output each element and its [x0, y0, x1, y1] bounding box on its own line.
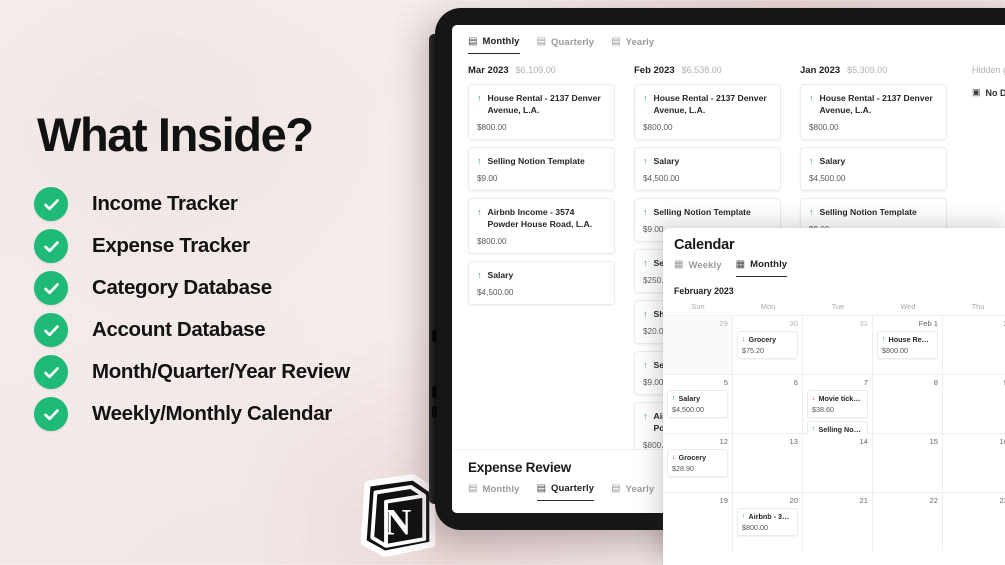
calendar-cell[interactable]: 14	[803, 434, 873, 492]
calendar-panel: Calendar ▦Weekly▦Monthly February 2023 S…	[663, 228, 1005, 565]
card-title: Selling Notion Template	[654, 206, 751, 218]
calendar-month-label: February 2023	[663, 277, 1005, 302]
calendar-grid-icon: ▦	[736, 260, 745, 270]
tab-monthly[interactable]: ▦Monthly	[736, 259, 788, 277]
card-title: Salary	[488, 269, 514, 281]
calendar-event[interactable]: ↓Grocery$75.20	[737, 331, 798, 359]
page-title: What Inside?	[37, 107, 313, 162]
calendar-week-row: 5↑Salary$4,500.0067↓Movie tickets$38.60↑…	[663, 374, 1005, 433]
board-card[interactable]: ↑Salary$4,500.00	[468, 261, 615, 305]
arrow-in-icon: ↑	[809, 206, 814, 218]
card-amount: $4,500.00	[477, 288, 606, 297]
board-card[interactable]: ↑Salary$4,500.00	[634, 147, 781, 191]
event-amount: $800.00	[882, 346, 933, 355]
card-amount: $800.00	[809, 123, 938, 132]
marketing-panel: What Inside? Income TrackerExpense Track…	[0, 0, 450, 565]
tab-label: Weekly	[688, 260, 721, 271]
calendar-day-name: Sun	[663, 302, 733, 315]
calendar-icon: ▤	[537, 37, 546, 47]
event-title: Grocery	[679, 453, 707, 462]
calendar-event[interactable]: ↓Grocery$28.90	[667, 449, 728, 477]
board-card[interactable]: ↑House Rental - 2137 Denver Avenue, L.A.…	[634, 84, 781, 140]
arrow-in-icon: ↑	[643, 155, 648, 167]
event-title: Selling Notion Te...	[819, 425, 864, 434]
calendar-date: 6	[737, 378, 798, 387]
arrow-in-icon: ↑	[882, 335, 886, 344]
tab-quarterly[interactable]: ▤Quarterly	[537, 483, 595, 501]
card-amount: $800.00	[643, 123, 772, 132]
calendar-cell[interactable]: 19	[663, 493, 733, 551]
calendar-cell[interactable]: 7↓Movie tickets$38.60↑Selling Notion Te.…	[803, 375, 873, 433]
arrow-out-icon: ↓	[742, 335, 746, 344]
calendar-cell[interactable]: 5↑Salary$4,500.00	[663, 375, 733, 433]
board-card[interactable]: ↑Salary$4,500.00	[800, 147, 947, 191]
feature-row: Month/Quarter/Year Review	[34, 351, 444, 393]
feature-label: Account Database	[92, 318, 265, 342]
calendar-day-name: Mon	[733, 302, 803, 315]
column-title: Mar 2023	[468, 65, 509, 76]
feature-row: Category Database	[34, 267, 444, 309]
calendar-date: 23	[947, 496, 1005, 505]
arrow-in-icon: ↑	[477, 92, 482, 104]
calendar-icon: ▤	[468, 37, 477, 47]
event-title: House Rental - 21...	[889, 335, 934, 344]
calendar-date: 31	[807, 319, 868, 328]
tab-label: Quarterly	[551, 37, 594, 48]
feature-label: Month/Quarter/Year Review	[92, 360, 350, 384]
calendar-cell[interactable]: 16	[943, 434, 1005, 492]
board-card[interactable]: ↑House Rental - 2137 Denver Avenue, L.A.…	[800, 84, 947, 140]
calendar-date: Feb 1	[877, 319, 938, 328]
board-card[interactable]: ↑House Rental - 2137 Denver Avenue, L.A.…	[468, 84, 615, 140]
arrow-in-icon: ↑	[643, 257, 648, 269]
tab-label: Yearly	[626, 484, 655, 495]
calendar-event[interactable]: ↓Movie tickets$38.60	[807, 390, 868, 418]
board-card[interactable]: ↑Airbnb Income - 3574 Powder House Road,…	[468, 198, 615, 254]
calendar-date: 15	[877, 437, 938, 446]
calendar-date: 20	[737, 496, 798, 505]
calendar-view-tabs: ▦Weekly▦Monthly	[663, 253, 1005, 277]
calendar-title: Calendar	[663, 228, 1005, 253]
check-icon	[34, 397, 68, 431]
calendar-cell[interactable]: 29	[663, 316, 733, 374]
arrow-in-icon: ↑	[643, 359, 648, 371]
feature-label: Income Tracker	[92, 192, 238, 216]
event-amount: $38.60	[812, 405, 863, 414]
card-title: House Rental - 2137 Denver Avenue, L.A.	[654, 92, 773, 116]
event-title: Movie tickets	[819, 394, 864, 403]
column-title: Jan 2023	[800, 65, 840, 76]
calendar-cell[interactable]: 31	[803, 316, 873, 374]
check-icon	[34, 313, 68, 347]
arrow-out-icon: ↓	[672, 453, 676, 462]
arrow-in-icon: ↑	[812, 425, 816, 434]
calendar-week-row: 2930↓Grocery$75.2031Feb 1↑House Rental -…	[663, 315, 1005, 374]
tab-monthly[interactable]: ▤Monthly	[468, 484, 520, 501]
tab-label: Yearly	[626, 37, 655, 48]
card-amount: $4,500.00	[643, 174, 772, 183]
tablet-button-bottom[interactable]	[432, 406, 437, 418]
feature-label: Expense Tracker	[92, 234, 250, 258]
card-title: House Rental - 2137 Denver Avenue, L.A.	[488, 92, 607, 116]
svg-text:N: N	[385, 501, 412, 542]
board-view-tabs: ▤Monthly▤Quarterly▤Yearly	[452, 25, 1005, 54]
calendar-date: 29	[667, 319, 728, 328]
tab-label: Quarterly	[551, 483, 594, 494]
feature-label: Category Database	[92, 276, 272, 300]
check-icon	[34, 187, 68, 221]
calendar-cell[interactable]: 12↓Grocery$28.90	[663, 434, 733, 492]
calendar-date: 14	[807, 437, 868, 446]
calendar-week-row: 1920↑Airbnb - 3574 Po...$800.00212223	[663, 492, 1005, 551]
event-amount: $75.20	[742, 346, 793, 355]
arrow-in-icon: ↑	[643, 92, 648, 104]
tablet-side-edge	[429, 34, 437, 504]
calendar-date: 2	[947, 319, 1005, 328]
inbox-icon: ▣	[972, 87, 981, 98]
calendar-cell[interactable]: 2	[943, 316, 1005, 374]
calendar-date: 12	[667, 437, 728, 446]
column-header[interactable]: Jan 2023$5,309.00	[800, 65, 947, 76]
calendar-event[interactable]: ↑Salary$4,500.00	[667, 390, 728, 418]
arrow-in-icon: ↑	[809, 92, 814, 104]
hidden-group-label: No Date	[986, 88, 1005, 98]
calendar-day-names: SunMonTueWedThu	[663, 302, 1005, 315]
tab-label: Monthly	[750, 259, 787, 270]
calendar-cell[interactable]: 9	[943, 375, 1005, 433]
feature-row: Account Database	[34, 309, 444, 351]
calendar-day-name: Thu	[943, 302, 1005, 315]
column-sum: $6,538.00	[682, 65, 722, 75]
calendar-grid: SunMonTueWedThu2930↓Grocery$75.2031Feb 1…	[663, 302, 1005, 551]
arrow-in-icon: ↑	[477, 206, 482, 218]
calendar-date: 16	[947, 437, 1005, 446]
event-amount: $800.00	[742, 523, 793, 532]
arrow-in-icon: ↑	[742, 512, 746, 521]
calendar-event[interactable]: ↑Airbnb - 3574 Po...$800.00	[737, 508, 798, 536]
arrow-out-icon: ↓	[812, 394, 816, 403]
event-title: Salary	[679, 394, 701, 403]
arrow-in-icon: ↑	[643, 410, 648, 422]
calendar-cell[interactable]: 21	[803, 493, 873, 551]
calendar-icon: ▤	[537, 484, 546, 494]
feature-list: Income TrackerExpense TrackerCategory Da…	[34, 183, 444, 435]
feature-label: Weekly/Monthly Calendar	[92, 402, 332, 426]
tab-yearly[interactable]: ▤Yearly	[611, 37, 654, 54]
arrow-in-icon: ↑	[643, 206, 648, 218]
calendar-cell[interactable]: 23	[943, 493, 1005, 551]
feature-row: Expense Tracker	[34, 225, 444, 267]
tab-label: Monthly	[482, 36, 519, 47]
event-amount: $28.90	[672, 464, 723, 473]
calendar-cell[interactable]: 15	[873, 434, 943, 492]
calendar-cell[interactable]: 22	[873, 493, 943, 551]
calendar-event[interactable]: ↑House Rental - 21...$800.00	[877, 331, 938, 359]
hidden-group-no-date[interactable]: ▣ No Date $	[972, 87, 1005, 98]
event-title: Airbnb - 3574 Po...	[749, 512, 794, 521]
card-amount: $800.00	[477, 237, 606, 246]
board-column: Mar 2023$6,109.00↑House Rental - 2137 De…	[468, 65, 615, 513]
calendar-day-name: Wed	[873, 302, 943, 315]
tab-yearly[interactable]: ▤Yearly	[611, 484, 654, 501]
calendar-date: 19	[667, 496, 728, 505]
calendar-date: 13	[737, 437, 798, 446]
calendar-grid-icon: ▦	[674, 260, 683, 270]
feature-row: Weekly/Monthly Calendar	[34, 393, 444, 435]
calendar-cell[interactable]: 13	[733, 434, 803, 492]
calendar-week-row: 12↓Grocery$28.9013141516	[663, 433, 1005, 492]
column-sum: $5,309.00	[847, 65, 887, 75]
arrow-in-icon: ↑	[672, 394, 676, 403]
feature-row: Income Tracker	[34, 183, 444, 225]
check-icon	[34, 229, 68, 263]
tablet-button-middle[interactable]	[432, 386, 437, 398]
event-title: Grocery	[749, 335, 777, 344]
column-header[interactable]: Feb 2023$6,538.00	[634, 65, 781, 76]
arrow-in-icon: ↑	[477, 269, 482, 281]
tab-quarterly[interactable]: ▤Quarterly	[537, 37, 595, 54]
check-icon	[34, 271, 68, 305]
calendar-cell[interactable]: 30↓Grocery$75.20	[733, 316, 803, 374]
arrow-in-icon: ↑	[477, 155, 482, 167]
calendar-cell[interactable]: 8	[873, 375, 943, 433]
card-amount: $800.00	[477, 123, 606, 132]
card-title: Salary	[820, 155, 846, 167]
calendar-icon: ▤	[611, 37, 620, 47]
calendar-date: 8	[877, 378, 938, 387]
column-sum: $6,109.00	[516, 65, 556, 75]
card-amount: $4,500.00	[809, 174, 938, 183]
column-header[interactable]: Mar 2023$6,109.00	[468, 65, 615, 76]
check-icon	[34, 355, 68, 389]
calendar-date: 7	[807, 378, 868, 387]
tab-monthly[interactable]: ▤Monthly	[468, 36, 520, 54]
event-amount: $4,500.00	[672, 405, 723, 414]
calendar-date: 9	[947, 378, 1005, 387]
tab-weekly[interactable]: ▦Weekly	[674, 260, 722, 277]
calendar-date: 5	[667, 378, 728, 387]
arrow-in-icon: ↑	[809, 155, 814, 167]
hidden-groups-label: Hidden groups	[972, 65, 1005, 75]
arrow-in-icon: ↑	[643, 308, 648, 320]
calendar-date: 21	[807, 496, 868, 505]
card-title: House Rental - 2137 Denver Avenue, L.A.	[820, 92, 939, 116]
card-title: Airbnb Income - 3574 Powder House Road, …	[488, 206, 607, 230]
board-card[interactable]: ↑Selling Notion Template$9.00	[468, 147, 615, 191]
tablet-button-top[interactable]	[432, 330, 437, 342]
calendar-icon: ▤	[468, 484, 477, 494]
calendar-day-name: Tue	[803, 302, 873, 315]
column-title: Feb 2023	[634, 65, 675, 76]
card-title: Salary	[654, 155, 680, 167]
calendar-date: 22	[877, 496, 938, 505]
card-title: Selling Notion Template	[488, 155, 585, 167]
calendar-icon: ▤	[611, 484, 620, 494]
card-title: Selling Notion Template	[820, 206, 917, 218]
calendar-cell[interactable]: 6	[733, 375, 803, 433]
calendar-date: 30	[737, 319, 798, 328]
calendar-cell[interactable]: 20↑Airbnb - 3574 Po...$800.00	[733, 493, 803, 551]
calendar-cell[interactable]: Feb 1↑House Rental - 21...$800.00	[873, 316, 943, 374]
card-amount: $9.00	[477, 174, 606, 183]
tab-label: Monthly	[482, 484, 519, 495]
